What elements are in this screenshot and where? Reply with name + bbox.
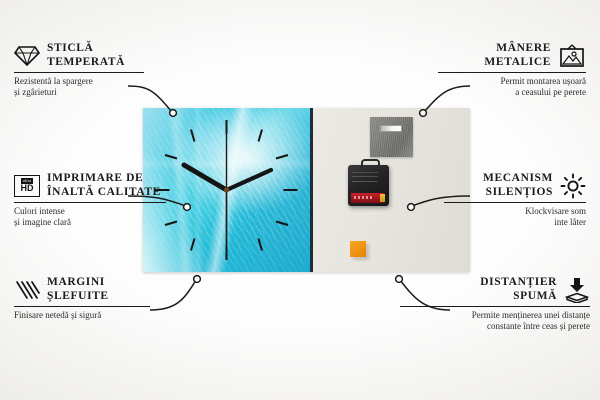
- callout-title: DISTANȚIER SPUMĂ: [480, 276, 557, 303]
- callout-tempered-glass: STICLĂ TEMPERATĂ Rezistentă la spargere …: [14, 42, 144, 98]
- divider: [14, 306, 150, 307]
- movement-markings: [352, 170, 378, 184]
- callout-desc-2: inte låter: [444, 217, 586, 228]
- diamond-icon: [14, 45, 40, 67]
- callout-desc-2: și zgârieturi: [14, 87, 144, 98]
- callout-title: MARGINI ȘLEFUITE: [47, 276, 109, 303]
- hanger-slot: [380, 125, 402, 132]
- callout-header: DISTANȚIER SPUMĂ: [400, 276, 590, 303]
- clock-front-panel: [143, 108, 313, 272]
- divider: [14, 72, 144, 73]
- callout-desc-1: Permite menținerea unei distanțe: [400, 310, 590, 321]
- callout-foam-spacer: DISTANȚIER SPUMĂ Permite menținerea unei…: [400, 276, 590, 332]
- callout-desc-2: constante între ceas și perete: [400, 321, 590, 332]
- callout-desc-1: Rezistentă la spargere: [14, 76, 144, 87]
- callout-desc-2: a ceasului pe perete: [438, 87, 586, 98]
- ultra-hd-icon: ultra HD: [14, 175, 40, 197]
- product-photo: [143, 108, 470, 272]
- callout-desc-1: Finisare netedă și sigură: [14, 310, 150, 321]
- clock-dial: [143, 108, 310, 272]
- divider: [14, 202, 166, 203]
- divider: [438, 72, 586, 73]
- battery: [351, 193, 384, 203]
- callout-desc-1: Culori intense: [14, 206, 166, 217]
- leader-dot-edges: [194, 276, 201, 283]
- divider: [400, 306, 590, 307]
- foam-spacer: [350, 241, 366, 257]
- metal-hanger: [370, 117, 413, 157]
- callout-header: STICLĂ TEMPERATĂ: [14, 42, 144, 69]
- callout-title: MÂNERE METALICE: [484, 42, 551, 69]
- callout-title: MECANISM SILENȚIOS: [483, 172, 553, 199]
- callout-header: MÂNERE METALICE: [438, 42, 586, 69]
- callout-silent-mechanism: MECANISM SILENȚIOS Klockvisare som inte …: [444, 172, 586, 228]
- callout-header: MARGINI ȘLEFUITE: [14, 276, 150, 303]
- product-feature-infographic: STICLĂ TEMPERATĂ Rezistentă la spargere …: [0, 0, 600, 400]
- gear-icon: [560, 173, 586, 199]
- picture-frame-icon: [558, 44, 586, 68]
- callout-desc-2: și imagine clară: [14, 217, 166, 228]
- polished-edges-icon: [14, 279, 40, 301]
- callout-metal-hangers: MÂNERE METALICE Permit montarea ușoară a…: [438, 42, 586, 98]
- callout-header: MECANISM SILENȚIOS: [444, 172, 586, 199]
- callout-hd-print: ultra HD IMPRIMARE DE ÎNALTĂ CALITATE Cu…: [14, 172, 166, 228]
- callout-desc-1: Klockvisare som: [444, 206, 586, 217]
- foam-spacer-icon: [564, 277, 590, 303]
- clock-hands: [184, 132, 271, 254]
- hd-label: HD: [21, 184, 34, 193]
- battery-label: [354, 196, 374, 199]
- callout-polished-edges: MARGINI ȘLEFUITE Finisare netedă și sigu…: [14, 276, 150, 321]
- movement-loop: [361, 159, 380, 169]
- quartz-movement: [348, 165, 389, 206]
- callout-desc-1: Permit montarea ușoară: [438, 76, 586, 87]
- battery-cap: [380, 194, 385, 202]
- callout-header: ultra HD IMPRIMARE DE ÎNALTĂ CALITATE: [14, 172, 166, 199]
- callout-title: STICLĂ TEMPERATĂ: [47, 42, 125, 69]
- callout-title: IMPRIMARE DE ÎNALTĂ CALITATE: [47, 172, 161, 199]
- divider: [444, 202, 586, 203]
